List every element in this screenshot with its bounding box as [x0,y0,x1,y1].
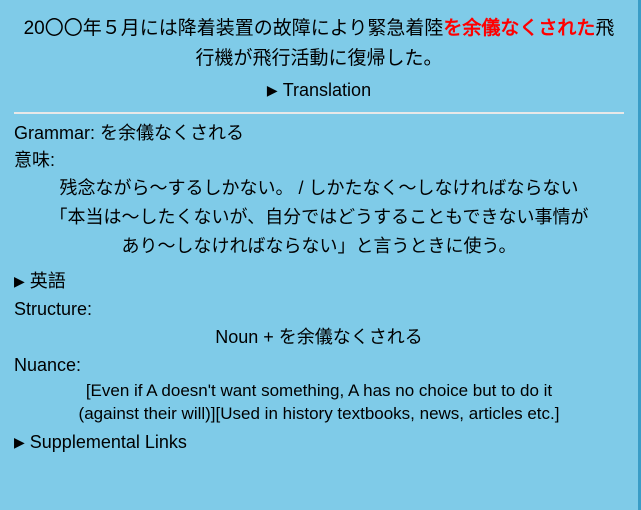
english-disclosure-toggle[interactable]: ▶英語 [14,268,66,295]
triangle-right-icon: ▶ [14,268,25,294]
nuance-label: Nuance: [14,352,624,379]
structure-value: Noun + を余儀なくされる [14,323,624,352]
translation-toggle-label: Translation [283,80,371,100]
example-sentence-highlight-2: た [576,18,595,39]
example-sentence: 20〇〇年５月には降着装置の故障により緊急着陸を余儀なくされた飛行機が飛行活動に… [16,14,622,74]
translation-toggle-row: ▶Translation [16,77,622,104]
example-sentence-block: 20〇〇年５月には降着装置の故障により緊急着陸を余儀なくされた飛行機が飛行活動に… [0,0,638,104]
english-toggle-label: 英語 [30,271,66,291]
example-sentence-highlight-1: を余儀なくされ [443,18,576,39]
example-sentence-part-1: 20〇〇年５月には降着装置の故障により緊急着陸 [24,18,444,39]
triangle-right-icon: ▶ [14,429,25,455]
supplemental-links-disclosure-toggle[interactable]: ▶Supplemental Links [14,429,187,456]
nuance-line-2: (against their will)][Used in history te… [14,402,624,425]
grammar-body: Grammar: を余儀なくされる 意味: 残念ながら〜するしかない。 / しか… [0,114,638,456]
translation-disclosure-toggle[interactable]: ▶Translation [267,77,371,104]
grammar-entry-page: 20〇〇年５月には降着装置の故障により緊急着陸を余儀なくされた飛行機が飛行活動に… [0,0,641,510]
structure-label: Structure: [14,296,624,323]
grammar-title: Grammar: を余儀なくされる [14,120,624,147]
meaning-line-3: あり〜しなければならない」と言うときに使う。 [14,232,624,261]
supplemental-links-toggle-row: ▶Supplemental Links [14,429,624,456]
spacer [14,261,624,264]
meaning-label: 意味: [14,147,624,174]
meaning-line-2: 「本当は〜したくないが、自分ではどうすることもできない事情が [14,203,624,232]
triangle-right-icon: ▶ [267,77,278,103]
nuance-line-1: [Even if A doesn't want something, A has… [14,379,624,402]
supplemental-links-toggle-label: Supplemental Links [30,432,187,452]
english-toggle-row: ▶英語 [14,268,624,295]
meaning-line-1: 残念ながら〜するしかない。 / しかたなく〜しなければならない [14,174,624,203]
